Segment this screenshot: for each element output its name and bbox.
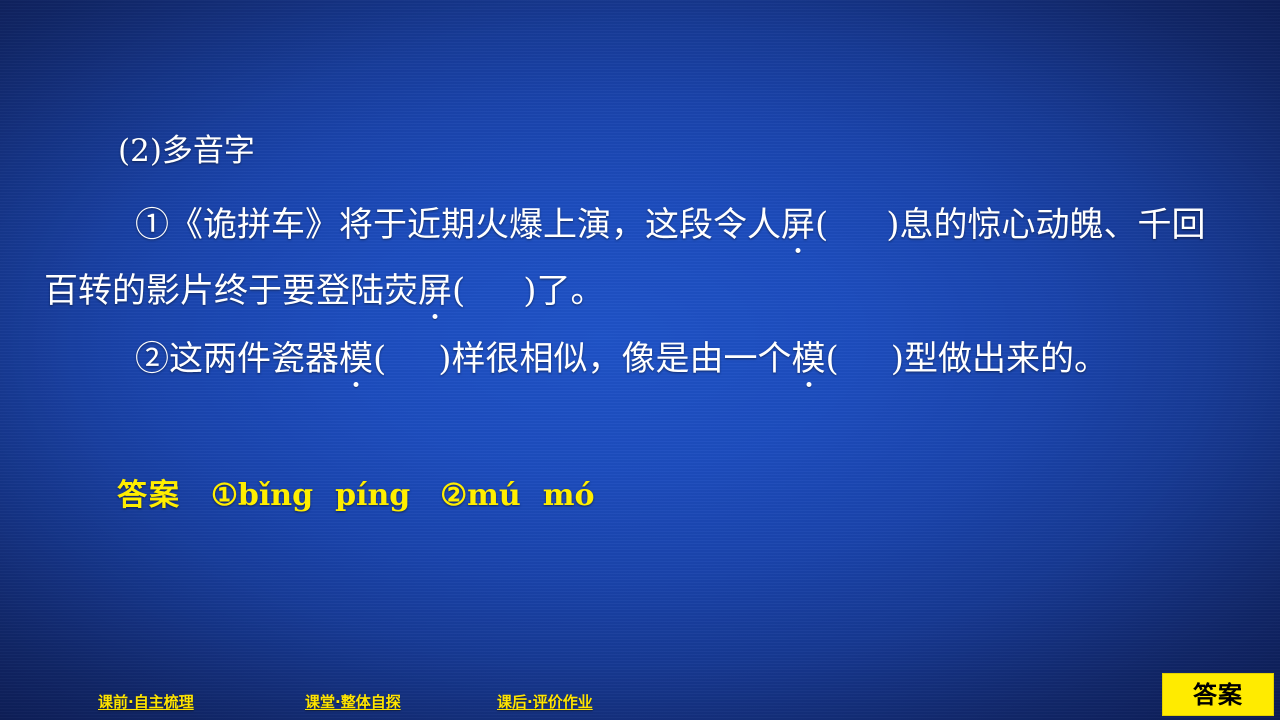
- paren-open-2: (: [452, 271, 465, 311]
- footer-nav: 课前·自主梳理 课堂·整体自探 课后·评价作业: [0, 691, 1280, 717]
- question-line-2: 百转的影片终于要登陆荧屏()了。: [44, 274, 605, 308]
- answer-item-2-marker: ②: [440, 478, 467, 513]
- emphasis-char-mu: 模: [339, 342, 373, 376]
- section-heading-polyphonic-characters: (2)多音字: [118, 136, 255, 167]
- question-1-text-part-3: 百转的影片终于要登陆荧: [44, 271, 418, 311]
- slide-canvas: (2)多音字 ①《诡拼车》将于近期火爆上演，这段令人屏()息的惊心动魄、千回 百…: [0, 0, 1280, 720]
- answer-item-2-pinyin-a: mú: [467, 478, 521, 513]
- show-answer-button[interactable]: 答案: [1162, 673, 1274, 716]
- paren-open-1: (: [815, 205, 828, 245]
- footer-nav-item-post-class[interactable]: 课后·评价作业: [497, 691, 593, 712]
- emphasis-char-ping-2: 屏: [418, 274, 452, 308]
- emphasis-char-ping-1: 屏: [781, 208, 815, 242]
- footer-nav-item-pre-class[interactable]: 课前·自主梳理: [98, 691, 194, 712]
- question-2-text-part-1: ②这两件瓷器: [135, 339, 339, 379]
- question-line-3: ②这两件瓷器模()样很相似，像是由一个模()型做出来的。: [135, 342, 1108, 376]
- question-line-1: ①《诡拼车》将于近期火爆上演，这段令人屏()息的惊心动魄、千回: [135, 208, 1206, 242]
- paren-open-3: (: [373, 339, 386, 379]
- question-1-text-part-4: )了。: [523, 271, 604, 311]
- answer-item-2-pinyin-b: mó: [543, 478, 595, 513]
- question-1-text-part-1: ①《诡拼车》将于近期火爆上演，这段令人: [135, 205, 781, 245]
- slide-content: (2)多音字 ①《诡拼车》将于近期火爆上演，这段令人屏()息的惊心动魄、千回 百…: [0, 0, 1280, 720]
- answer-item-1-pinyin-a: bǐng: [238, 478, 313, 513]
- answer-item-1-marker: ①: [211, 478, 238, 513]
- question-2-text-part-2: )样很相似，像是由一个: [438, 339, 791, 379]
- question-2-text-part-3: )型做出来的。: [891, 339, 1108, 379]
- answer-item-1-pinyin-b: píng: [335, 478, 410, 513]
- answer-line: 答案①bǐngpíng②múmó: [117, 470, 594, 514]
- footer-nav-item-in-class[interactable]: 课堂·整体自探: [305, 691, 401, 712]
- question-1-text-part-2: )息的惊心动魄、千回: [886, 205, 1205, 245]
- emphasis-char-mo: 模: [792, 342, 826, 376]
- paren-open-4: (: [826, 339, 839, 379]
- answer-label: 答案: [117, 478, 181, 513]
- show-answer-button-label: 答案: [1193, 683, 1243, 707]
